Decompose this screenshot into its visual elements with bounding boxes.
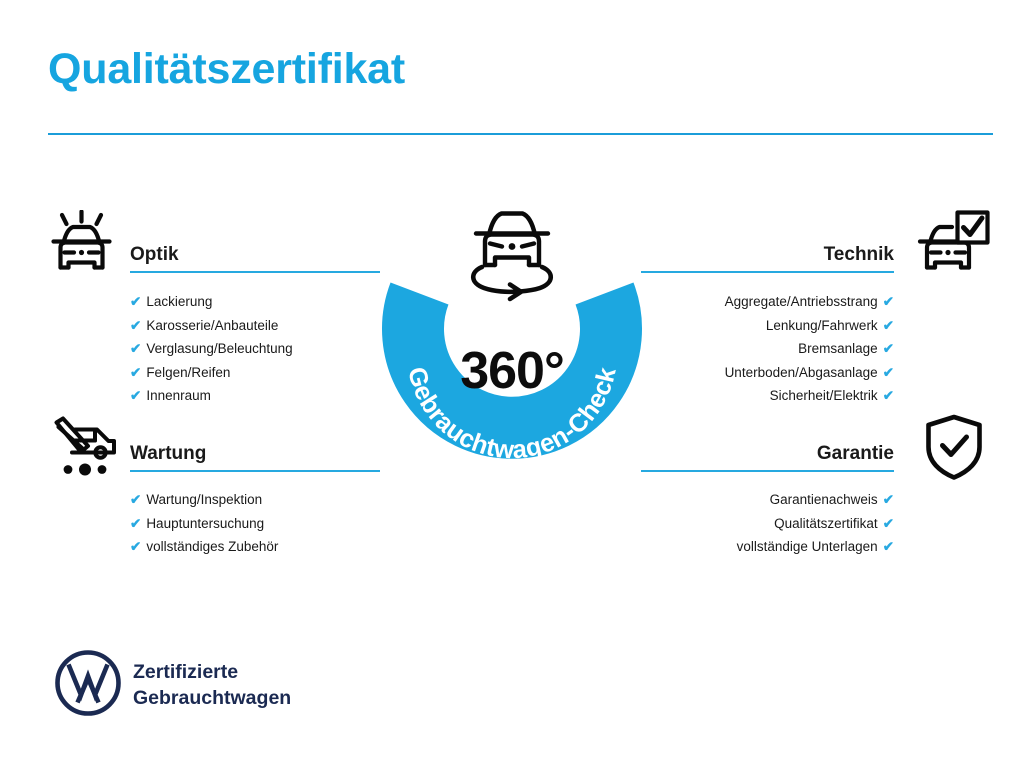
section-divider-garantie — [641, 470, 894, 472]
list-item-label: Verglasung/Beleuchtung — [146, 341, 292, 356]
list-item-label: Lackierung — [146, 294, 212, 309]
list-item: Qualitätszertifikat✔ — [737, 512, 894, 536]
car-front-checkbox-icon — [916, 210, 990, 277]
list-item-label: Hauptuntersuchung — [146, 516, 264, 531]
checklist-optik: ✔Lackierung ✔Karosserie/Anbauteile ✔Verg… — [130, 290, 293, 408]
check-icon: ✔ — [883, 365, 894, 380]
section-garantie: Garantie Garantienachweis✔ Qualitätszert… — [624, 402, 1024, 572]
list-item: ✔Verglasung/Beleuchtung — [130, 337, 293, 361]
list-item-label: vollständige Unterlagen — [737, 539, 878, 554]
car-rotate-icon — [473, 214, 551, 300]
list-item-label: Bremsanlage — [798, 341, 878, 356]
list-item-label: Felgen/Reifen — [146, 365, 230, 380]
list-item: vollständige Unterlagen✔ — [737, 535, 894, 559]
list-item: Lenkung/Fahrwerk✔ — [725, 314, 894, 338]
list-item-label: Garantienachweis — [770, 492, 878, 507]
section-heading-garantie: Garantie — [817, 444, 894, 463]
list-item-label: Aggregate/Antriebsstrang — [725, 294, 878, 309]
section-optik: Optik ✔Lackierung ✔Karosserie/Anbauteile… — [0, 205, 400, 405]
section-divider-wartung — [130, 470, 380, 472]
check-icon: ✔ — [883, 294, 894, 309]
checklist-garantie: Garantienachweis✔ Qualitätszertifikat✔ v… — [737, 488, 894, 559]
list-item-label: Unterboden/Abgasanlage — [725, 365, 878, 380]
check-icon: ✔ — [130, 365, 141, 380]
car-front-shine-icon — [48, 210, 116, 277]
list-item-label: vollständiges Zubehör — [146, 539, 278, 554]
list-item: ✔Lackierung — [130, 290, 293, 314]
list-item-label: Wartung/Inspektion — [146, 492, 262, 507]
list-item: Bremsanlage✔ — [725, 337, 894, 361]
check-icon: ✔ — [130, 492, 141, 507]
list-item: ✔Wartung/Inspektion — [130, 488, 278, 512]
footer-logo-text: Zertifizierte Gebrauchtwagen — [133, 659, 291, 711]
volkswagen-logo-icon — [55, 650, 121, 721]
certificate-page: Qualitätszertifikat — [0, 0, 1024, 768]
list-item-label: Lenkung/Fahrwerk — [766, 318, 878, 333]
section-technik: Technik Aggregate/Antriebsstrang✔ Lenkun… — [624, 205, 1024, 405]
list-item: ✔Karosserie/Anbauteile — [130, 314, 293, 338]
check-icon: ✔ — [883, 516, 894, 531]
badge-360-gebrauchtwagen-check: Gebrauchtwagen-Check — [372, 193, 652, 493]
check-icon: ✔ — [130, 341, 141, 356]
shield-check-icon — [923, 414, 985, 485]
footer-logo: Zertifizierte Gebrauchtwagen — [55, 650, 385, 722]
list-item: Garantienachweis✔ — [737, 488, 894, 512]
section-heading-technik: Technik — [824, 245, 894, 264]
check-icon: ✔ — [130, 516, 141, 531]
section-divider-optik — [130, 271, 380, 273]
check-icon: ✔ — [883, 318, 894, 333]
check-icon: ✔ — [130, 539, 141, 554]
list-item-label: Karosserie/Anbauteile — [146, 318, 278, 333]
check-icon: ✔ — [883, 341, 894, 356]
list-item: ✔Felgen/Reifen — [130, 361, 293, 385]
check-icon: ✔ — [883, 539, 894, 554]
section-heading-optik: Optik — [130, 245, 179, 264]
checklist-technik: Aggregate/Antriebsstrang✔ Lenkung/Fahrwe… — [725, 290, 894, 408]
list-item: Aggregate/Antriebsstrang✔ — [725, 290, 894, 314]
check-icon: ✔ — [130, 294, 141, 309]
title-divider — [48, 133, 993, 135]
check-icon: ✔ — [883, 492, 894, 507]
checklist-wartung: ✔Wartung/Inspektion ✔Hauptuntersuchung ✔… — [130, 488, 278, 559]
list-item: Unterboden/Abgasanlage✔ — [725, 361, 894, 385]
section-divider-technik — [641, 271, 894, 273]
page-title: Qualitätszertifikat — [48, 48, 405, 91]
check-icon: ✔ — [130, 318, 141, 333]
footer-logo-line1: Zertifizierte — [133, 659, 291, 685]
list-item: ✔Hauptuntersuchung — [130, 512, 278, 536]
footer-logo-line2: Gebrauchtwagen — [133, 685, 291, 711]
list-item: ✔vollständiges Zubehör — [130, 535, 278, 559]
list-item-label: Qualitätszertifikat — [774, 516, 878, 531]
section-heading-wartung: Wartung — [130, 444, 206, 463]
badge-number: 360° — [372, 341, 652, 401]
car-service-pen-icon — [48, 416, 118, 483]
section-wartung: Wartung ✔Wartung/Inspektion ✔Hauptunters… — [0, 402, 400, 572]
